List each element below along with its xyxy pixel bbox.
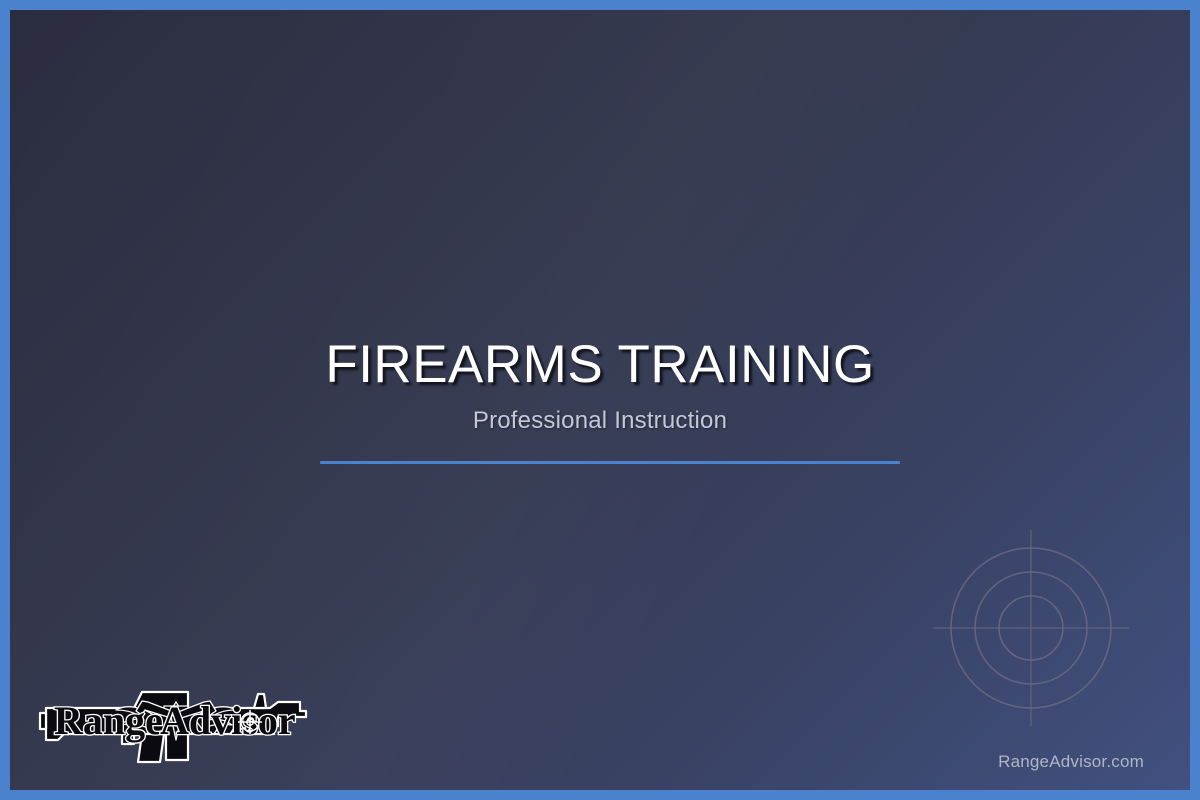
logo-word-range: Range [54,698,163,743]
presentation-slide: FIREARMS TRAINING Professional Instructi… [0,0,1200,800]
page-title: FIREARMS TRAINING [10,336,1190,393]
slide-canvas: FIREARMS TRAINING Professional Instructi… [10,10,1190,790]
logo-word-advisor: Advisor [160,698,296,743]
footer-url: RangeAdvisor.com [998,752,1144,772]
title-block: FIREARMS TRAINING Professional Instructi… [10,336,1190,435]
brand-logo: Range Advisor [38,682,314,768]
page-subtitle: Professional Instruction [10,407,1190,435]
accent-divider [320,461,900,464]
crosshair-target-icon [931,528,1131,728]
